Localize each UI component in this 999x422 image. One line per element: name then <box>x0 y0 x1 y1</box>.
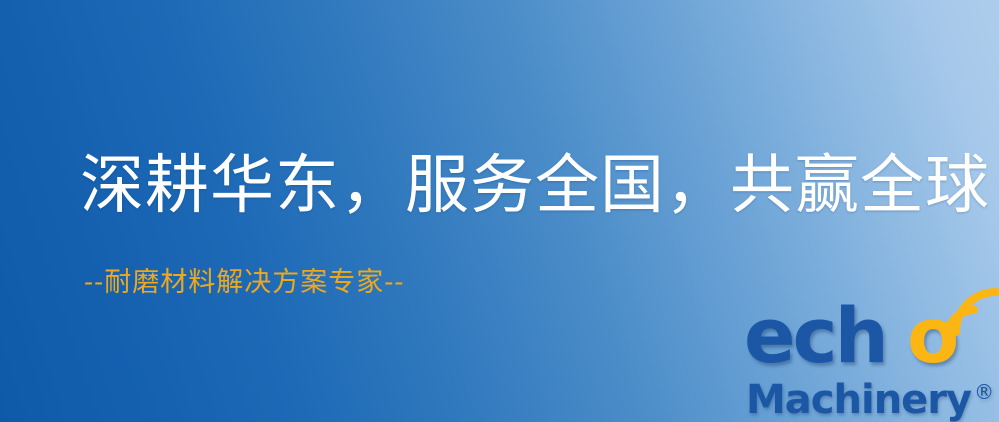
logo-product-line-text: Machinery <box>746 377 971 422</box>
banner-subtitle: --耐磨材料解决方案专家-- <box>84 266 405 300</box>
logo-brand-echo: ech <box>744 298 886 374</box>
signal-waves-icon <box>938 288 999 344</box>
logo-product-line: Machinery® <box>746 370 994 422</box>
promotional-banner: 深耕华东，服务全国，共赢全球 --耐磨材料解决方案专家-- ech o Mach… <box>0 0 999 422</box>
company-logo[interactable]: ech o Machinery® <box>742 292 994 420</box>
banner-headline: 深耕华东，服务全国，共赢全球 <box>80 148 990 224</box>
logo-trademark-symbol: ® <box>974 380 994 404</box>
logo-wordmark: ech o <box>742 292 994 380</box>
